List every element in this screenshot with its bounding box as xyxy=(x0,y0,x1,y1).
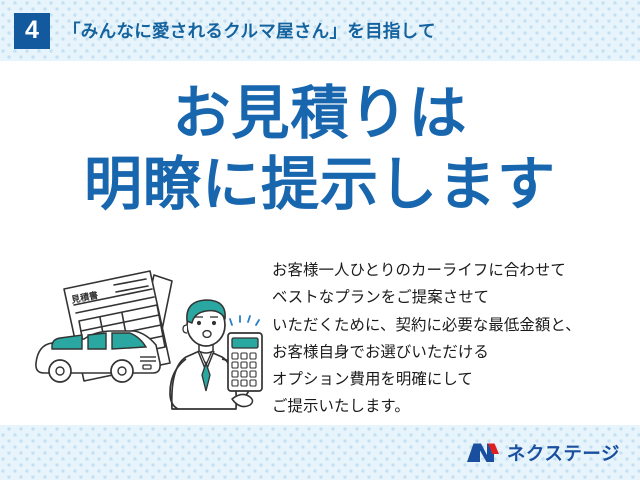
promo-slide: 4 「みんなに愛されるクルマ屋さん」を目指して お見積りは 明瞭に提示します xyxy=(0,0,640,480)
section-number-badge: 4 xyxy=(14,13,50,49)
nextage-n-logo-icon xyxy=(466,441,500,465)
content-card: お見積りは 明瞭に提示します xyxy=(0,61,640,425)
illustration-svg: 見積書 xyxy=(22,259,272,419)
headline-line-1: お見積りは xyxy=(0,83,640,144)
sparkle-icon xyxy=(230,316,259,325)
body-paragraph: お客様一人ひとりのカーライフに合わせて ベストなプランをご提案させて いただくた… xyxy=(272,257,624,421)
header: 4 「みんなに愛されるクルマ屋さん」を目指して xyxy=(0,0,640,61)
body-line: オプション費用を明確にして xyxy=(272,366,624,393)
body-line: お客様自身でお選びいただける xyxy=(272,339,624,366)
footer: ネクステージ xyxy=(0,425,640,480)
body-line: いただくために、契約に必要な最低金額と、 xyxy=(272,312,624,339)
brand-logo: ネクステージ xyxy=(466,440,620,466)
calculator-illustration xyxy=(228,333,262,391)
header-title: 「みんなに愛されるクルマ屋さん」を目指して xyxy=(63,18,436,43)
body-line: ベストなプランをご提案させて xyxy=(272,284,624,311)
body-line: ご提示いたします。 xyxy=(272,393,624,420)
body-line: お客様一人ひとりのカーライフに合わせて xyxy=(272,257,624,284)
illustration-sales-staff: 見積書 xyxy=(22,259,272,419)
headline-line-2: 明瞭に提示します xyxy=(0,154,640,215)
headline: お見積りは 明瞭に提示します xyxy=(0,83,640,216)
brand-logo-text: ネクステージ xyxy=(507,440,620,466)
